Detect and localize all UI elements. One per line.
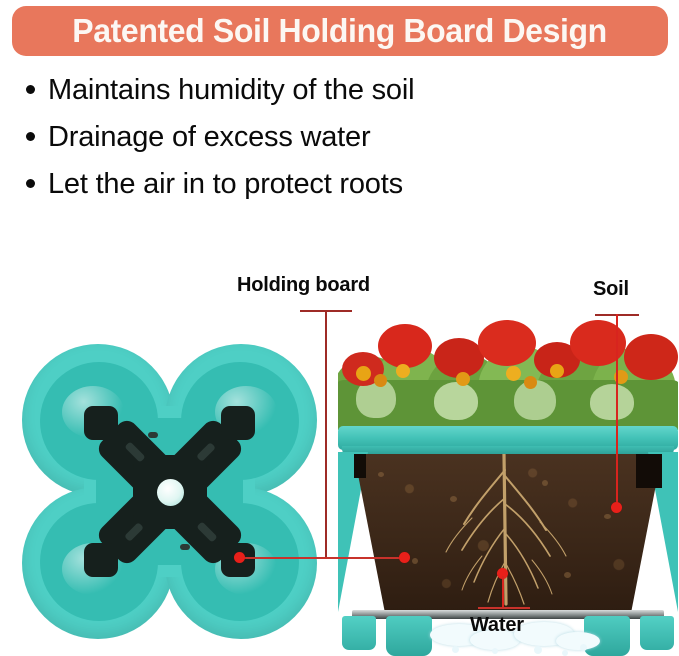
callout-label-water: Water (470, 614, 524, 637)
bullet-icon (26, 132, 35, 141)
board-foot (221, 406, 255, 440)
leader-line-holding-board-vertical (325, 310, 327, 558)
accent-flower (456, 372, 470, 386)
board-foot (84, 543, 118, 577)
bullet-icon (26, 85, 35, 94)
callout-label-holding-board: Holding board (237, 274, 370, 297)
feature-list: Maintains humidity of the soil Drainage … (18, 70, 658, 211)
accent-flower (550, 364, 564, 378)
leaf (590, 384, 634, 420)
list-item: Drainage of excess water (18, 117, 658, 164)
soil-shadow (636, 454, 662, 488)
anchor-dot-soil (611, 502, 622, 513)
water-droplet (452, 646, 459, 653)
pot-foot (640, 616, 674, 650)
anchor-dot-holding-board-left (234, 552, 245, 563)
list-item: Let the air in to protect roots (18, 164, 658, 211)
leader-line-holding-board-horizontal (240, 557, 408, 559)
accent-flower (374, 374, 387, 387)
drainage-hole (157, 479, 184, 506)
holding-board-top-view (80, 402, 259, 581)
feature-text: Maintains humidity of the soil (48, 70, 414, 110)
flower-bloom (478, 320, 536, 366)
feature-text: Drainage of excess water (48, 117, 370, 157)
bullet-icon (26, 179, 35, 188)
soil-shadow (354, 454, 366, 478)
anchor-dot-holding-board-right (399, 552, 410, 563)
product-illustration: Holding board Soil Water (0, 236, 679, 646)
accent-flower (506, 366, 521, 381)
water-splash (556, 632, 600, 650)
water-droplet (562, 650, 568, 656)
board-vent (148, 432, 158, 438)
flower-bloom (624, 334, 678, 380)
pot-foot (386, 616, 432, 656)
leaf (434, 382, 478, 420)
board-foot (84, 406, 118, 440)
water-droplet (534, 646, 542, 654)
planter-cross-section (338, 294, 678, 624)
water-droplet (492, 648, 498, 654)
clover-planter-top-view (22, 344, 317, 639)
board-vent (180, 544, 190, 550)
accent-flower (524, 376, 537, 389)
accent-flower (396, 364, 410, 378)
leader-line-water-bottom (478, 607, 530, 609)
feature-text: Let the air in to protect roots (48, 164, 403, 204)
leader-line-soil-vertical (616, 314, 618, 508)
pot-foot (342, 616, 376, 650)
leader-line-water-vertical (502, 576, 504, 608)
callout-label-soil: Soil (593, 278, 629, 301)
water-droplet (580, 644, 587, 651)
list-item: Maintains humidity of the soil (18, 70, 658, 117)
page-title: Patented Soil Holding Board Design (73, 12, 608, 50)
header-banner: Patented Soil Holding Board Design (12, 6, 668, 56)
flower-bloom (378, 324, 432, 368)
accent-flower (356, 366, 371, 381)
